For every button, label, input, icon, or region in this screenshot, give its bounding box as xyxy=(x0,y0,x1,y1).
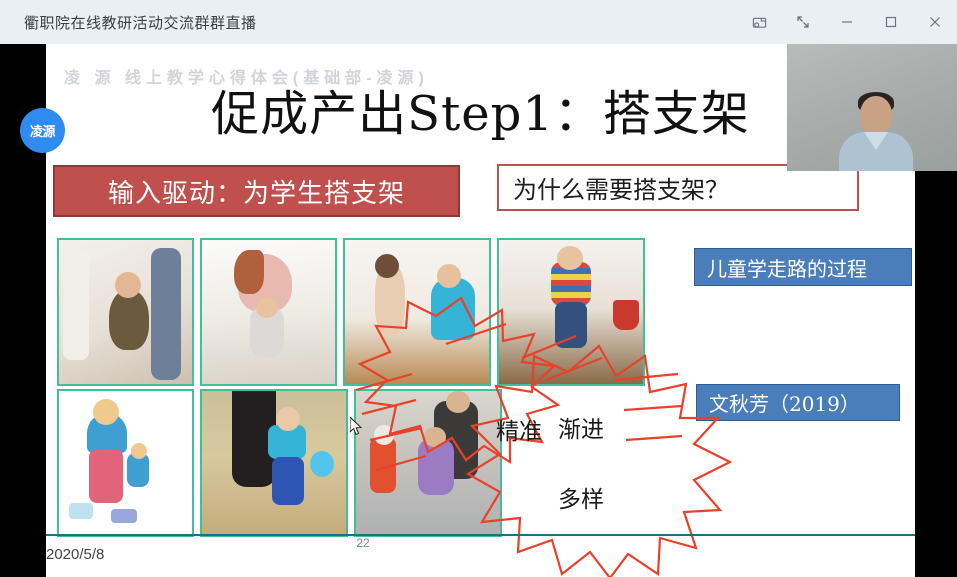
question-banner: 为什么需要搭支架？ xyxy=(497,164,859,211)
blue-box-1-label: 儿童学走路的过程 xyxy=(707,253,867,282)
photo-illustration-mother-toddler xyxy=(57,389,194,537)
snapshot-icon[interactable] xyxy=(737,0,781,44)
presenter-video-tile[interactable] xyxy=(787,44,957,171)
slide-date: 2020/5/8 xyxy=(46,546,104,563)
live-stream-window: 衢职院在线教研活动交流群群直播 xyxy=(0,0,957,577)
fullscreen-icon[interactable] xyxy=(781,0,825,44)
window-title: 衢职院在线教研活动交流群群直播 xyxy=(24,12,257,33)
slide-baseline xyxy=(46,534,915,536)
annotation-strokes-upper xyxy=(366,284,686,404)
photo-mother-baby-first-steps xyxy=(200,238,337,386)
red-banner: 输入驱动：为学生搭支架 xyxy=(53,165,460,217)
blue-box-learning-process: 儿童学走路的过程 xyxy=(694,248,912,286)
red-banner-label: 输入驱动：为学生搭支架 xyxy=(108,173,405,210)
shared-slide: 凌 源 线上教学心得体会(基础部-凌源) 促成产出Step1：搭支架 输入驱动：… xyxy=(46,44,915,577)
mouse-cursor xyxy=(350,417,364,442)
slide-title: 促成产出Step1：搭支架 xyxy=(46,74,915,144)
speaker-avatar[interactable]: 凌源 xyxy=(20,108,65,153)
slide-number: 22 xyxy=(336,534,390,556)
photo-baby-walking-held-hands xyxy=(57,238,194,386)
maximize-icon[interactable] xyxy=(869,0,913,44)
minimize-icon[interactable] xyxy=(825,0,869,44)
close-icon[interactable] xyxy=(913,0,957,44)
title-bar: 衢职院在线教研活动交流群群直播 xyxy=(0,0,957,44)
question-banner-label: 为什么需要搭支架？ xyxy=(513,170,729,205)
window-controls xyxy=(737,0,957,44)
stream-stage: 凌 源 线上教学心得体会(基础部-凌源) 促成产出Step1：搭支架 输入驱动：… xyxy=(0,44,957,577)
